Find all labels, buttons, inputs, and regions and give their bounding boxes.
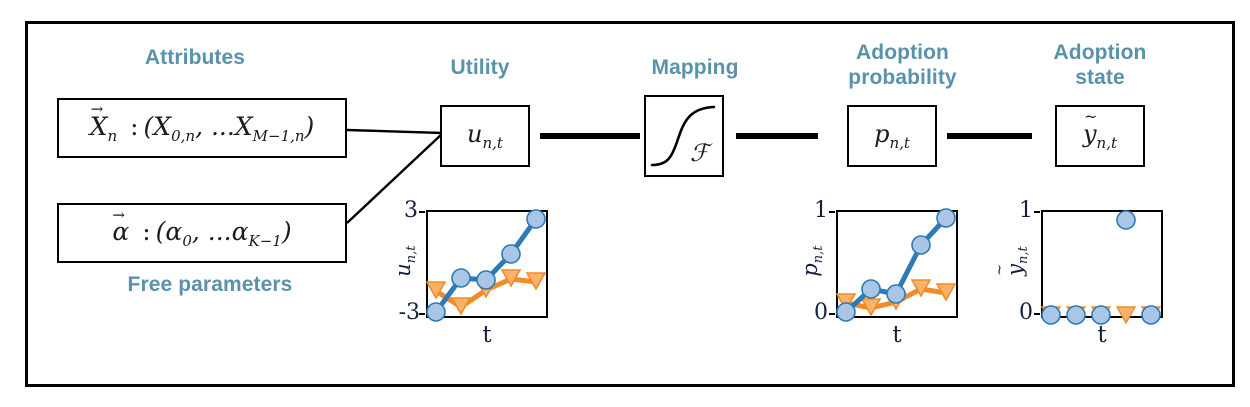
connector-mapping-to-probability (736, 133, 818, 139)
adoption-probability-plot-xlabel: t (836, 322, 958, 348)
adoption-state-expression: ~yn,t (1083, 120, 1117, 152)
utility-plot-tickmark-bottom (419, 313, 425, 315)
attributes-expression: →Xn : (X0,n, ...XM−1,n) (90, 112, 315, 145)
adoption-probability-plot-tickmark-bottom (829, 313, 835, 315)
utility-box: un,t (440, 105, 530, 167)
utility-plot-axes (426, 210, 548, 318)
heading-adoption-probability-line2: probability (815, 65, 990, 90)
adoption-probability-plot-ylabel: pn,t (798, 231, 826, 291)
adoption-probability-plot-ytick-top: 1 (802, 198, 828, 223)
adoption-probability-plot-axes (836, 210, 958, 318)
heading-free-parameters: Free parameters (95, 272, 325, 297)
utility-plot-series (428, 212, 546, 316)
adoption-state-box: ~yn,t (1055, 105, 1145, 167)
utility-plot: 3 -3 un,t t (390, 200, 570, 375)
adoption-state-plot-axes (1041, 210, 1163, 318)
heading-adoption-state-line2: state (1020, 65, 1180, 90)
svg-text:ℱ: ℱ (690, 139, 713, 167)
heading-mapping: Mapping (620, 55, 770, 80)
attributes-box: →Xn : (X0,n, ...XM−1,n) (57, 98, 347, 158)
adoption-probability-plot-ytick-bottom: 0 (802, 300, 828, 325)
sigmoid-curve-icon: ℱ (648, 99, 720, 173)
adoption-state-plot-ytick-top: 1 (1007, 198, 1033, 223)
adoption-probability-plot: 1 0 pn,t t (800, 200, 980, 375)
free-parameters-box: →α : (α0, ...αK−1) (57, 203, 347, 263)
adoption-state-plot-ylabel: ~yn,t (1003, 231, 1031, 291)
utility-plot-xlabel: t (426, 322, 548, 348)
utility-plot-tickmark-top (419, 211, 425, 213)
heading-utility: Utility (405, 55, 555, 80)
heading-adoption-probability: Adoption probability (815, 40, 990, 90)
adoption-probability-box: pn,t (847, 105, 937, 167)
adoption-state-plot-ytick-bottom: 0 (1007, 300, 1033, 325)
adoption-probability-plot-series (838, 212, 956, 316)
adoption-state-plot-tickmark-bottom (1034, 313, 1040, 315)
heading-adoption-state: Adoption state (1020, 40, 1180, 90)
heading-adoption-probability-line1: Adoption (815, 40, 990, 65)
mapping-box: ℱ (644, 95, 724, 177)
connector-probability-to-state (947, 133, 1032, 139)
adoption-state-plot-tickmark-top (1034, 211, 1040, 213)
utility-expression: un,t (467, 120, 503, 152)
adoption-state-plot-series (1043, 212, 1161, 316)
utility-plot-ytick-top: 3 (388, 198, 418, 223)
figure-canvas: Attributes Utility Mapping Adoption prob… (0, 0, 1250, 407)
utility-plot-ylabel: un,t (391, 231, 419, 291)
adoption-state-plot-xlabel: t (1041, 322, 1163, 348)
heading-adoption-state-line1: Adoption (1020, 40, 1180, 65)
heading-attributes: Attributes (100, 45, 290, 70)
adoption-probability-plot-tickmark-top (829, 211, 835, 213)
utility-plot-ytick-bottom: -3 (382, 300, 420, 325)
free-parameters-expression: →α : (α0, ...αK−1) (112, 217, 291, 250)
adoption-state-plot: 1 0 ~yn,t t (1005, 200, 1185, 375)
adoption-probability-expression: pn,t (874, 120, 910, 152)
connector-utility-to-mapping (540, 133, 640, 139)
